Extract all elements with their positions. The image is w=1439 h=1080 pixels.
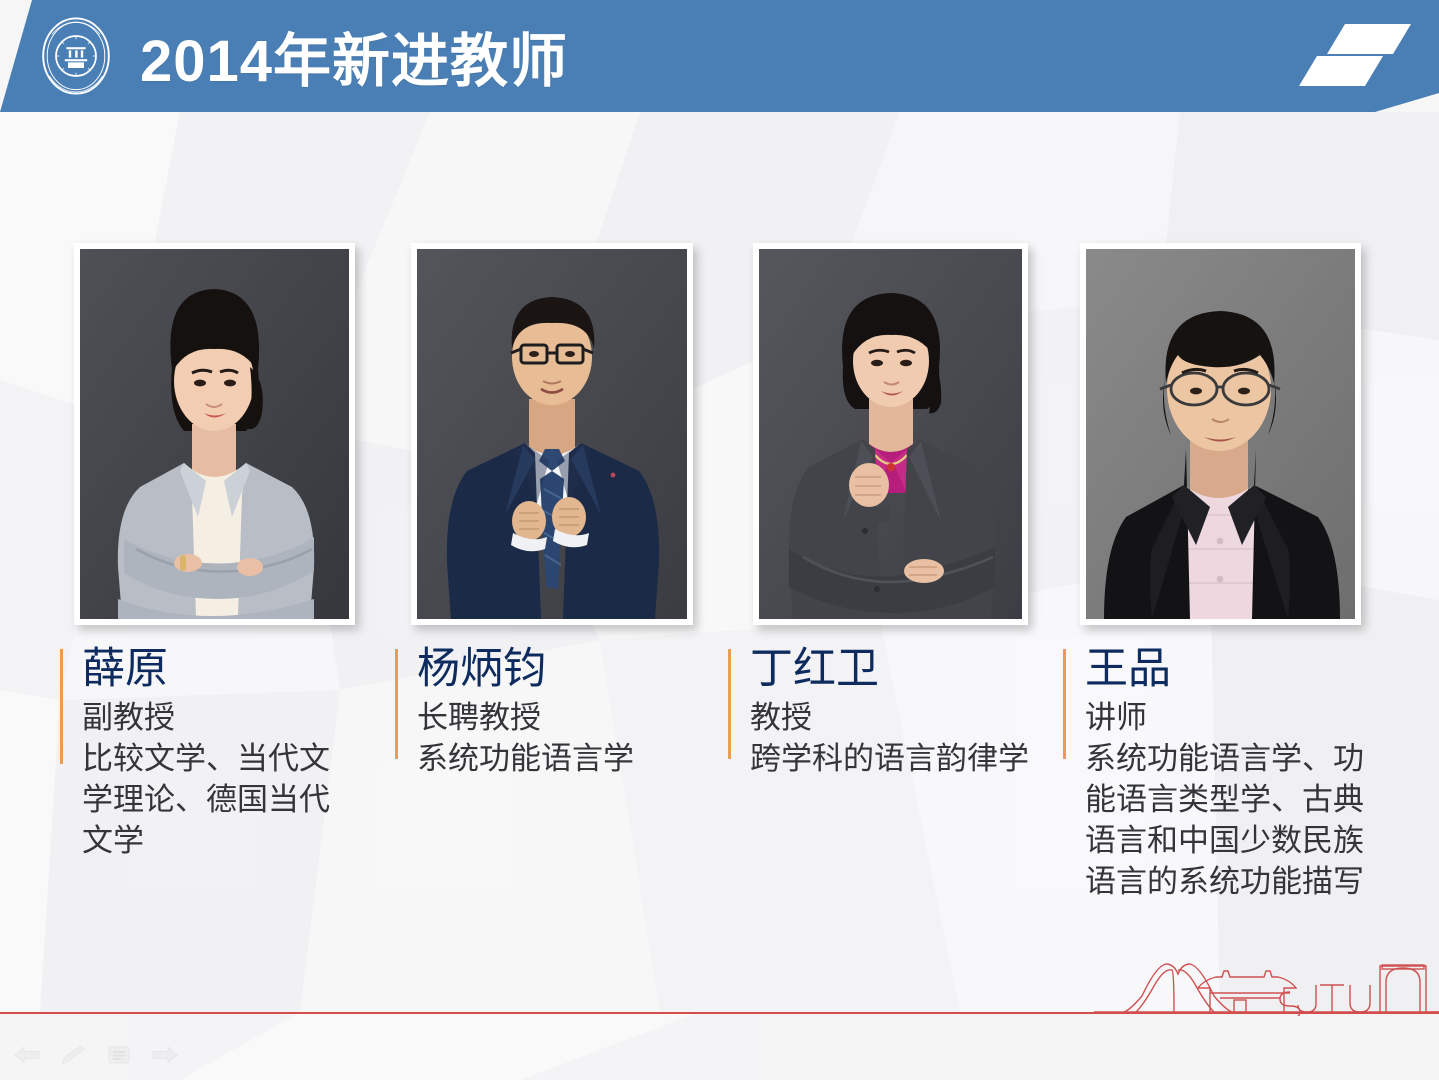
faculty-name: 丁红卫 xyxy=(750,645,1058,695)
presenter-controls[interactable] xyxy=(14,1044,178,1066)
faculty-photo-frame xyxy=(74,243,355,625)
faculty-info: 薛原 副教授 比较文学、当代文 学理论、德国当代 文学 xyxy=(60,645,360,861)
faculty-info: 杨炳钧 长聘教授 系统功能语言学 xyxy=(395,645,705,779)
accent-bar xyxy=(60,649,63,764)
accent-bar xyxy=(1063,649,1066,759)
faculty-list: 薛原 副教授 比较文学、当代文 学理论、德国当代 文学 xyxy=(0,0,1439,1080)
faculty-rank: 长聘教授 xyxy=(417,697,705,738)
faculty-photo xyxy=(759,249,1022,619)
faculty-rank: 教授 xyxy=(750,697,1058,738)
faculty-photo xyxy=(1086,249,1355,619)
faculty-rank: 副教授 xyxy=(82,697,360,738)
faculty-photo-frame xyxy=(753,243,1028,625)
faculty-field: 系统功能语言学、功 能语言类型学、古典 语言和中国少数民族 语言的系统功能描写 xyxy=(1085,738,1403,902)
faculty-rank: 讲师 xyxy=(1085,697,1403,738)
faculty-photo-frame xyxy=(1080,243,1361,625)
faculty-photo xyxy=(417,249,687,619)
faculty-photo xyxy=(80,249,349,619)
presentation-slide: 2014年新进教师 xyxy=(0,0,1439,1080)
faculty-name: 王品 xyxy=(1085,645,1403,695)
faculty-field: 系统功能语言学 xyxy=(417,738,705,779)
faculty-photo-frame xyxy=(411,243,693,625)
sjtu-campus-skyline-icon xyxy=(1094,952,1439,1016)
accent-bar xyxy=(728,649,731,759)
arrow-right-icon[interactable] xyxy=(152,1044,178,1066)
faculty-info: 王品 讲师 系统功能语言学、功 能语言类型学、古典 语言和中国少数民族 语言的系… xyxy=(1063,645,1403,902)
faculty-field: 比较文学、当代文 学理论、德国当代 文学 xyxy=(82,738,360,861)
arrow-left-icon[interactable] xyxy=(14,1044,40,1066)
menu-icon[interactable] xyxy=(106,1044,132,1066)
faculty-info: 丁红卫 教授 跨学科的语言韵律学 xyxy=(728,645,1058,779)
faculty-name: 杨炳钧 xyxy=(417,645,705,695)
accent-bar xyxy=(395,649,398,759)
faculty-name: 薛原 xyxy=(82,645,360,695)
faculty-field: 跨学科的语言韵律学 xyxy=(750,738,1058,779)
pen-icon[interactable] xyxy=(60,1044,86,1066)
